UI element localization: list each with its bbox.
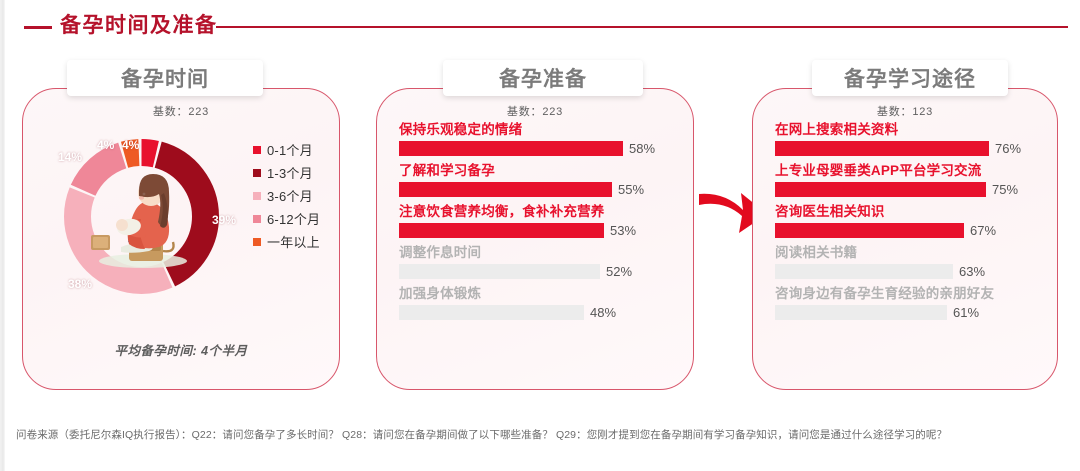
bar-row: 52% [399, 262, 679, 281]
bar-fill [399, 264, 600, 279]
bar-row: 55% [399, 180, 679, 199]
panel-title-pill-left: 备孕时间 [67, 60, 263, 96]
panel-title-pill-middle: 备孕准备 [443, 60, 643, 96]
bar-item: 咨询医生相关知识 67% [775, 202, 1047, 240]
donut-label-2: 38% [68, 277, 92, 291]
legend-label: 6-12个月 [267, 209, 320, 228]
bar-label: 保持乐观稳定的情绪 [399, 120, 679, 139]
bar-value: 52% [606, 264, 632, 279]
bar-fill [399, 182, 612, 197]
bar-value: 48% [590, 305, 616, 320]
average-prep-time-note: 平均备孕时间: 4个半月 [22, 340, 340, 359]
bar-value: 76% [995, 141, 1021, 156]
bar-fill [775, 141, 989, 156]
legend-swatch-icon [253, 238, 261, 246]
bar-label: 上专业母婴垂类APP平台学习交流 [775, 161, 1047, 180]
bar-row: 58% [399, 139, 679, 158]
legend-item: 6-12个月 [253, 207, 337, 230]
bar-row: 53% [399, 221, 679, 240]
bar-row: 61% [775, 303, 1047, 322]
bar-row: 76% [775, 139, 1047, 158]
legend-label: 1-3个月 [267, 163, 313, 182]
bar-track [775, 264, 953, 279]
bar-row: 67% [775, 221, 1047, 240]
panel-title-middle: 备孕准备 [499, 63, 587, 93]
bar-track [399, 223, 604, 238]
bar-label: 了解和学习备孕 [399, 161, 679, 180]
bar-track [775, 223, 964, 238]
bar-fill [399, 141, 623, 156]
legend-item: 1-3个月 [253, 161, 337, 184]
header-rule-left [24, 26, 52, 29]
bar-track [775, 141, 989, 156]
bar-item: 注意饮食营养均衡，食补补充营养 53% [399, 202, 679, 240]
bar-fill [399, 223, 604, 238]
base-label-right: 基数：123 [752, 103, 1058, 119]
base-label-left: 基数：223 [22, 103, 340, 119]
bar-label: 咨询医生相关知识 [775, 202, 1047, 221]
bar-item: 加强身体锻炼 48% [399, 284, 679, 322]
donut-label-0: 4% [122, 138, 139, 152]
legend-label: 3-6个月 [267, 186, 313, 205]
header-rule-right [216, 26, 1068, 28]
bar-value: 67% [970, 223, 996, 238]
bar-item: 保持乐观稳定的情绪 58% [399, 120, 679, 158]
legend-swatch-icon [253, 169, 261, 177]
bar-item: 阅读相关书籍 63% [775, 243, 1047, 281]
legend-item: 一年以上 [253, 230, 337, 253]
legend-item: 0-1个月 [253, 138, 337, 161]
illustration-mother-and-baby [85, 163, 200, 273]
bar-row: 48% [399, 303, 679, 322]
source-footnote: 问卷来源（委托尼尔森IQ执行报告）：Q22：请问您备孕了多长时间？ Q28：请问… [16, 428, 1068, 443]
bar-label: 加强身体锻炼 [399, 284, 679, 303]
legend-swatch-icon [253, 215, 261, 223]
bar-item: 咨询身边有备孕生育经验的亲朋好友 61% [775, 284, 1047, 322]
bar-value: 55% [618, 182, 644, 197]
bar-item: 在网上搜索相关资料 76% [775, 120, 1047, 158]
donut-label-4: 4% [97, 138, 114, 152]
bar-track [399, 305, 584, 320]
bar-track [399, 182, 612, 197]
bar-value: 53% [610, 223, 636, 238]
slide-header: 备孕时间及准备 [16, 14, 1072, 42]
bar-fill [775, 305, 947, 320]
bar-value: 75% [992, 182, 1018, 197]
bar-fill [775, 264, 953, 279]
legend-item: 3-6个月 [253, 184, 337, 207]
bar-fill [399, 305, 584, 320]
base-label-middle: 基数：223 [376, 103, 694, 119]
bar-label: 阅读相关书籍 [775, 243, 1047, 262]
bar-value: 58% [629, 141, 655, 156]
bar-track [775, 182, 986, 197]
donut-label-3: 14% [58, 150, 82, 164]
bar-item: 了解和学习备孕 55% [399, 161, 679, 199]
donut-legend: 0-1个月 1-3个月 3-6个月 6-12个月 一年以上 [253, 138, 337, 253]
bar-row: 63% [775, 262, 1047, 281]
bar-track [399, 264, 600, 279]
bar-row: 75% [775, 180, 1047, 199]
bar-value: 61% [953, 305, 979, 320]
slide-canvas: 备孕时间及准备 备孕时间 基数：223 [0, 0, 1080, 471]
bar-fill [775, 223, 964, 238]
left-edge-strip [0, 0, 5, 471]
bar-chart-preparation: 保持乐观稳定的情绪 58% 了解和学习备孕 55% 注意饮食营养均衡，食补补充营… [399, 120, 679, 325]
bar-track [775, 305, 947, 320]
bar-chart-learning-channels: 在网上搜索相关资料 76% 上专业母婴垂类APP平台学习交流 75% 咨询医生相… [775, 120, 1047, 325]
bar-track [399, 141, 623, 156]
legend-label: 0-1个月 [267, 140, 313, 159]
legend-label: 一年以上 [267, 232, 320, 251]
legend-swatch-icon [253, 146, 261, 154]
bar-fill [775, 182, 986, 197]
bar-item: 调整作息时间 52% [399, 243, 679, 281]
panel-title-left: 备孕时间 [121, 63, 209, 93]
bar-label: 在网上搜索相关资料 [775, 120, 1047, 139]
panel-title-pill-right: 备孕学习途径 [812, 60, 1008, 96]
page-title: 备孕时间及准备 [60, 12, 218, 40]
bar-label: 咨询身边有备孕生育经验的亲朋好友 [775, 284, 1047, 303]
bar-value: 63% [959, 264, 985, 279]
bar-item: 上专业母婴垂类APP平台学习交流 75% [775, 161, 1047, 199]
panel-title-right: 备孕学习途径 [844, 63, 976, 93]
bar-label: 调整作息时间 [399, 243, 679, 262]
bar-label: 注意饮食营养均衡，食补补充营养 [399, 202, 679, 221]
legend-swatch-icon [253, 192, 261, 200]
donut-label-1: 39% [212, 213, 236, 227]
